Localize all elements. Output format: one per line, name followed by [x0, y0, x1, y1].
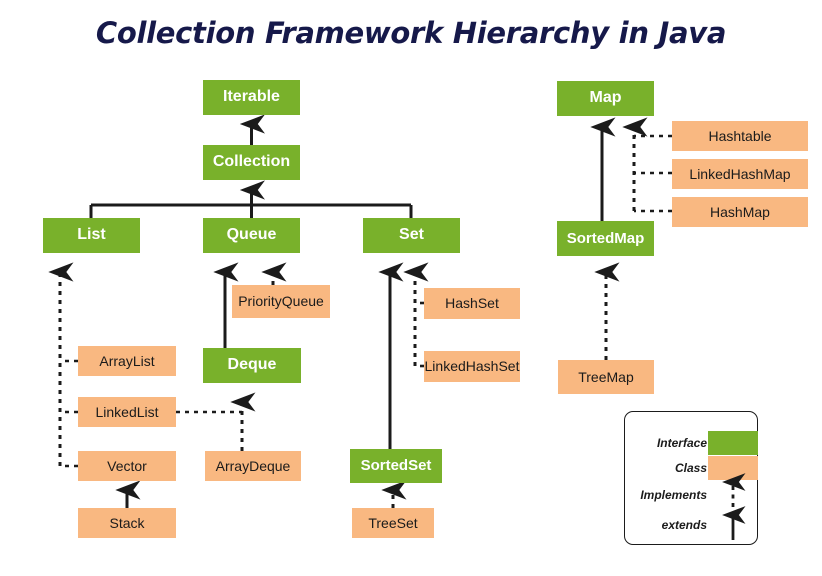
- node-sortedset[interactable]: SortedSet: [350, 449, 442, 483]
- node-linkedlist[interactable]: LinkedList: [78, 397, 176, 427]
- node-treemap[interactable]: TreeMap: [558, 360, 654, 394]
- node-map[interactable]: Map: [557, 81, 654, 116]
- node-hashmap[interactable]: HashMap: [672, 197, 808, 227]
- node-collection[interactable]: Collection: [203, 145, 300, 180]
- node-stack[interactable]: Stack: [78, 508, 176, 538]
- node-iterable[interactable]: Iterable: [203, 80, 300, 115]
- legend-arrow-samples: [625, 412, 759, 546]
- diagram-canvas: Collection Framework Hierarchy in Java: [0, 0, 822, 576]
- node-linkedhashmap[interactable]: LinkedHashMap: [672, 159, 808, 189]
- node-list[interactable]: List: [43, 218, 140, 253]
- node-hashtable[interactable]: Hashtable: [672, 121, 808, 151]
- node-arraylist[interactable]: ArrayList: [78, 346, 176, 376]
- node-hashset[interactable]: HashSet: [424, 288, 520, 319]
- node-sortedmap[interactable]: SortedMap: [557, 221, 654, 256]
- node-queue[interactable]: Queue: [203, 218, 300, 253]
- node-arraydeque[interactable]: ArrayDeque: [205, 451, 301, 481]
- node-deque[interactable]: Deque: [203, 348, 301, 383]
- node-linkedhashset[interactable]: LinkedHashSet: [424, 351, 520, 382]
- node-treeset[interactable]: TreeSet: [352, 508, 434, 538]
- page-title: Collection Framework Hierarchy in Java: [0, 16, 822, 50]
- node-set[interactable]: Set: [363, 218, 460, 253]
- legend-panel: Interface Class Implements extends: [624, 411, 758, 545]
- node-vector[interactable]: Vector: [78, 451, 176, 481]
- node-priorityqueue[interactable]: PriorityQueue: [232, 285, 330, 318]
